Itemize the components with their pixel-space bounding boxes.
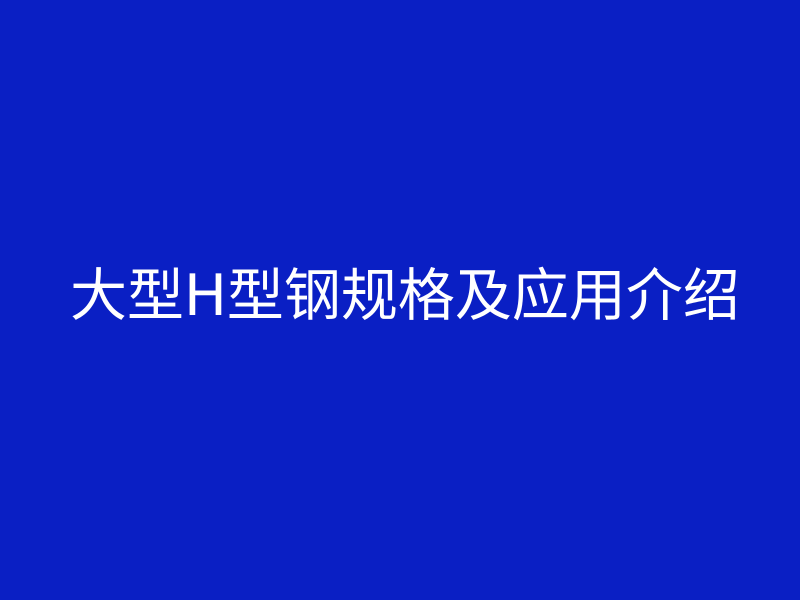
slide-title: 大型H型钢规格及应用介绍	[70, 266, 740, 328]
title-slide: 大型H型钢规格及应用介绍	[0, 0, 800, 600]
title-block: 大型H型钢规格及应用介绍	[70, 262, 770, 332]
